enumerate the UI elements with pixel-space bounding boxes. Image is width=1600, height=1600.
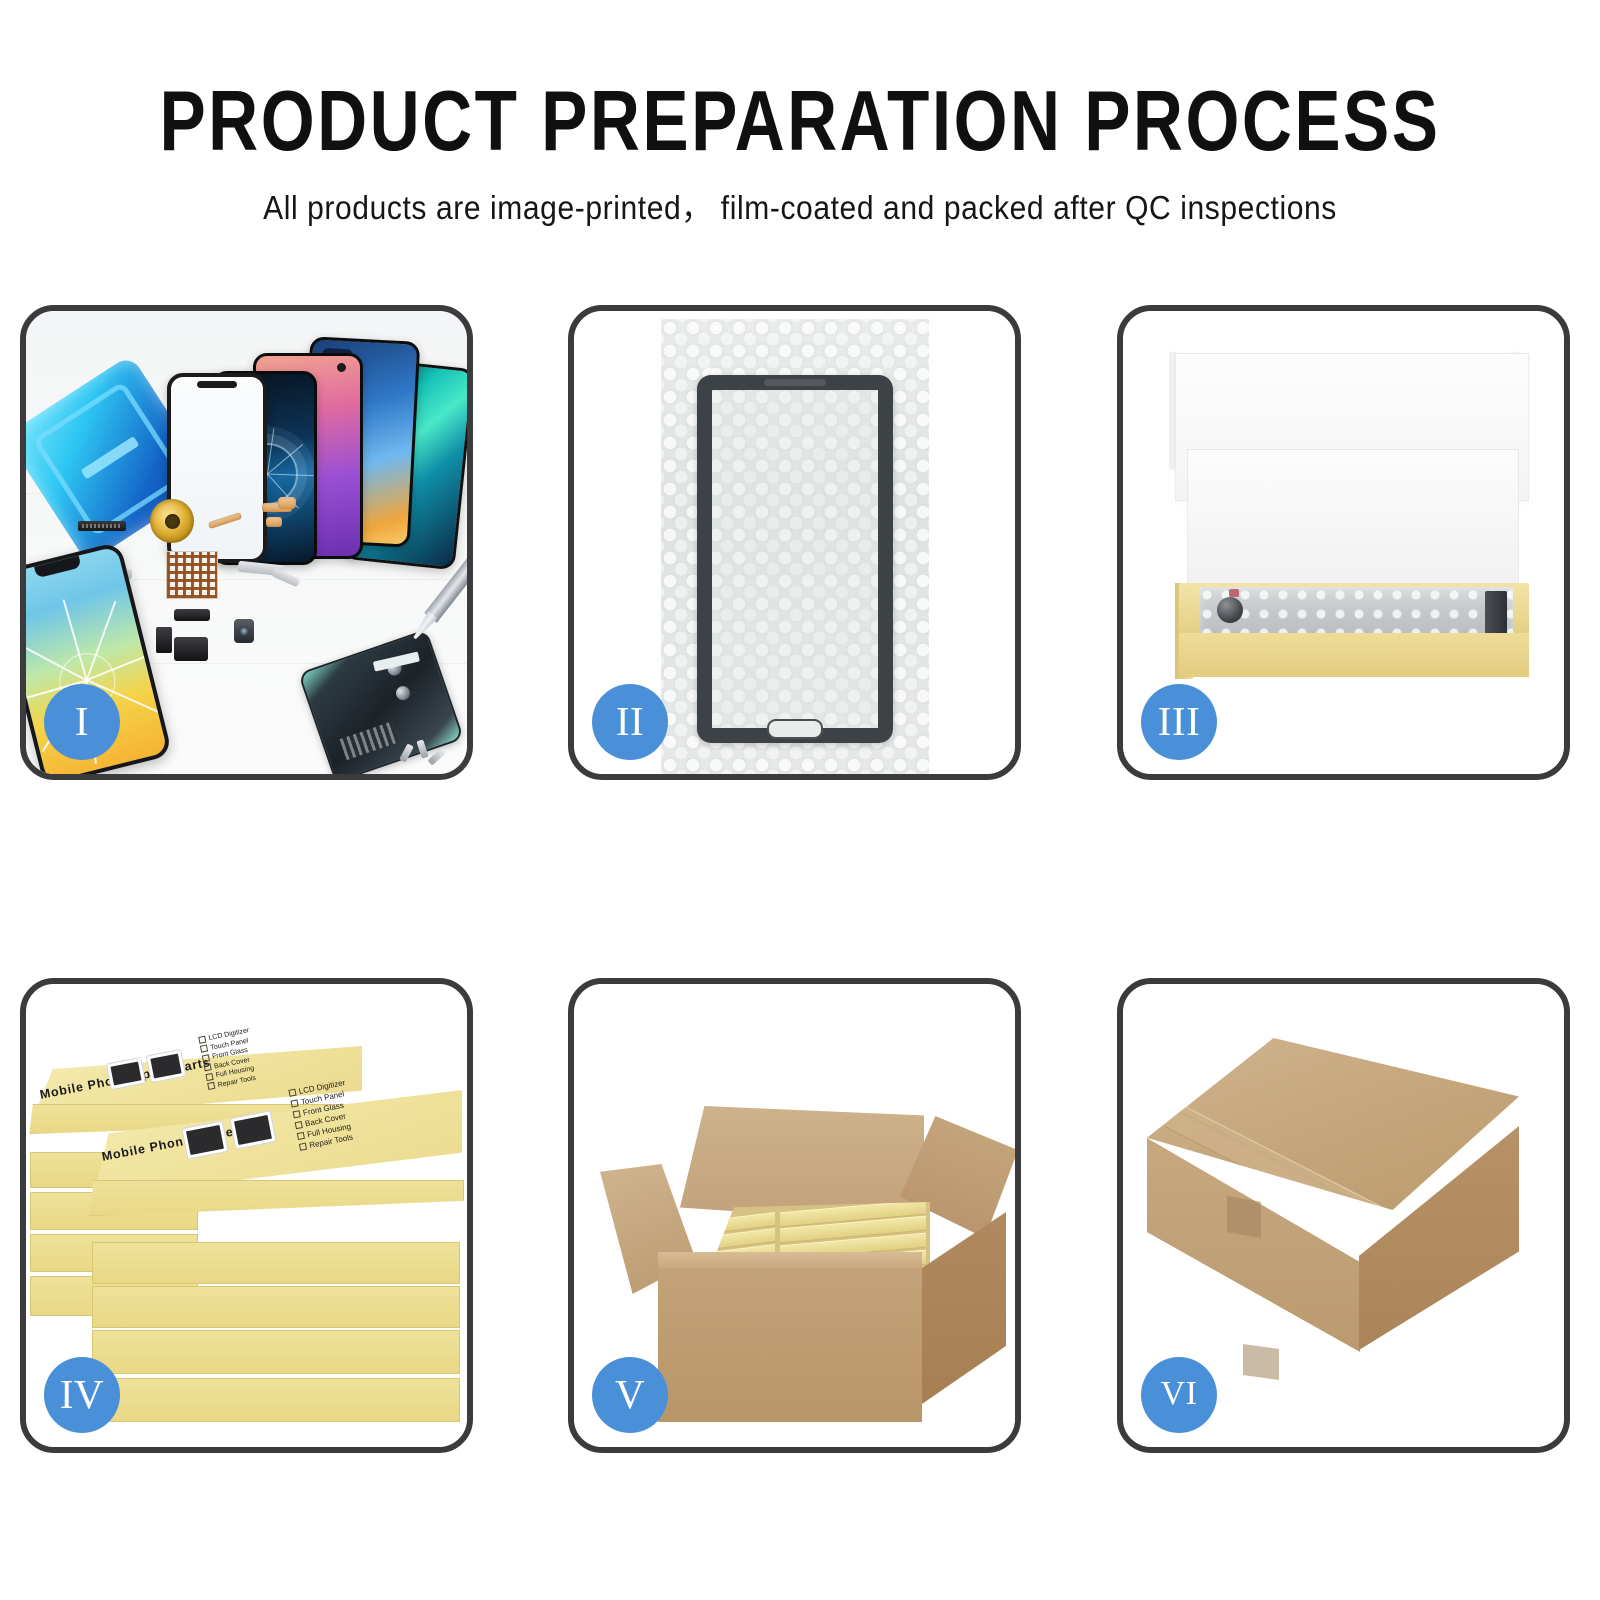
part-speaker-coil	[150, 499, 194, 543]
printed-box-front-edge	[86, 1180, 464, 1216]
part-bga-chip	[166, 551, 218, 599]
step-panel-2[interactable]: II	[568, 305, 1021, 780]
box-inner-wall	[1187, 449, 1519, 593]
box-checklist-front: LCD Digitizer Touch Panel Front Glass Ba…	[288, 1077, 357, 1153]
stacked-box	[92, 1242, 460, 1284]
part-connector-a	[278, 497, 296, 509]
step-numeral: II	[616, 701, 644, 742]
header: PRODUCT PREPARATION PROCESS All products…	[0, 0, 1600, 245]
step-numeral: IV	[60, 1374, 104, 1415]
part-bracket	[156, 627, 172, 653]
step-badge-6: VI	[1141, 1357, 1217, 1433]
step-numeral: VI	[1161, 1377, 1198, 1411]
step-numeral: V	[615, 1374, 645, 1415]
wrapped-screen-assembly	[697, 375, 893, 743]
part-connector-b	[266, 517, 282, 527]
step-badge-5: V	[592, 1357, 668, 1433]
stacked-box	[92, 1378, 460, 1422]
part-ic-b	[174, 609, 210, 621]
step-numeral: III	[1158, 701, 1200, 742]
page-subtitle: All products are image-printed， film-coa…	[263, 180, 1337, 229]
step-panel-5[interactable]: V	[568, 978, 1021, 1453]
part-speaker-mesh	[78, 521, 126, 531]
step-panel-6[interactable]: VI	[1117, 978, 1570, 1453]
box-tray-front	[1179, 633, 1529, 677]
bubble-wrap-sheet	[661, 319, 929, 774]
stacked-box	[92, 1286, 460, 1328]
earpiece-slot	[764, 379, 826, 386]
stacked-box	[92, 1330, 460, 1374]
step-numeral: I	[75, 701, 89, 742]
carton-tab-lower	[1243, 1344, 1279, 1380]
process-step-grid: I II	[20, 305, 1580, 1453]
part-camera-module	[234, 619, 254, 643]
step-panel-4[interactable]: Mobile Phone Spare Parts LCD Digitizer T…	[20, 978, 473, 1453]
step-badge-1: I	[44, 684, 120, 760]
home-button-cutout	[767, 719, 823, 739]
page-title: PRODUCT PREPARATION PROCESS	[160, 78, 1441, 163]
box-checklist-rear: LCD Digitizer Touch Panel Front Glass Ba…	[198, 1026, 259, 1092]
step-panel-1[interactable]: I	[20, 305, 473, 780]
carton-tab-upper	[1227, 1196, 1261, 1238]
step-badge-4: IV	[44, 1357, 120, 1433]
part-module	[174, 637, 208, 661]
step-badge-2: II	[592, 684, 668, 760]
part-screws	[401, 740, 453, 768]
step-panel-3[interactable]: III	[1117, 305, 1570, 780]
step-badge-3: III	[1141, 684, 1217, 760]
carton-front	[658, 1268, 922, 1422]
